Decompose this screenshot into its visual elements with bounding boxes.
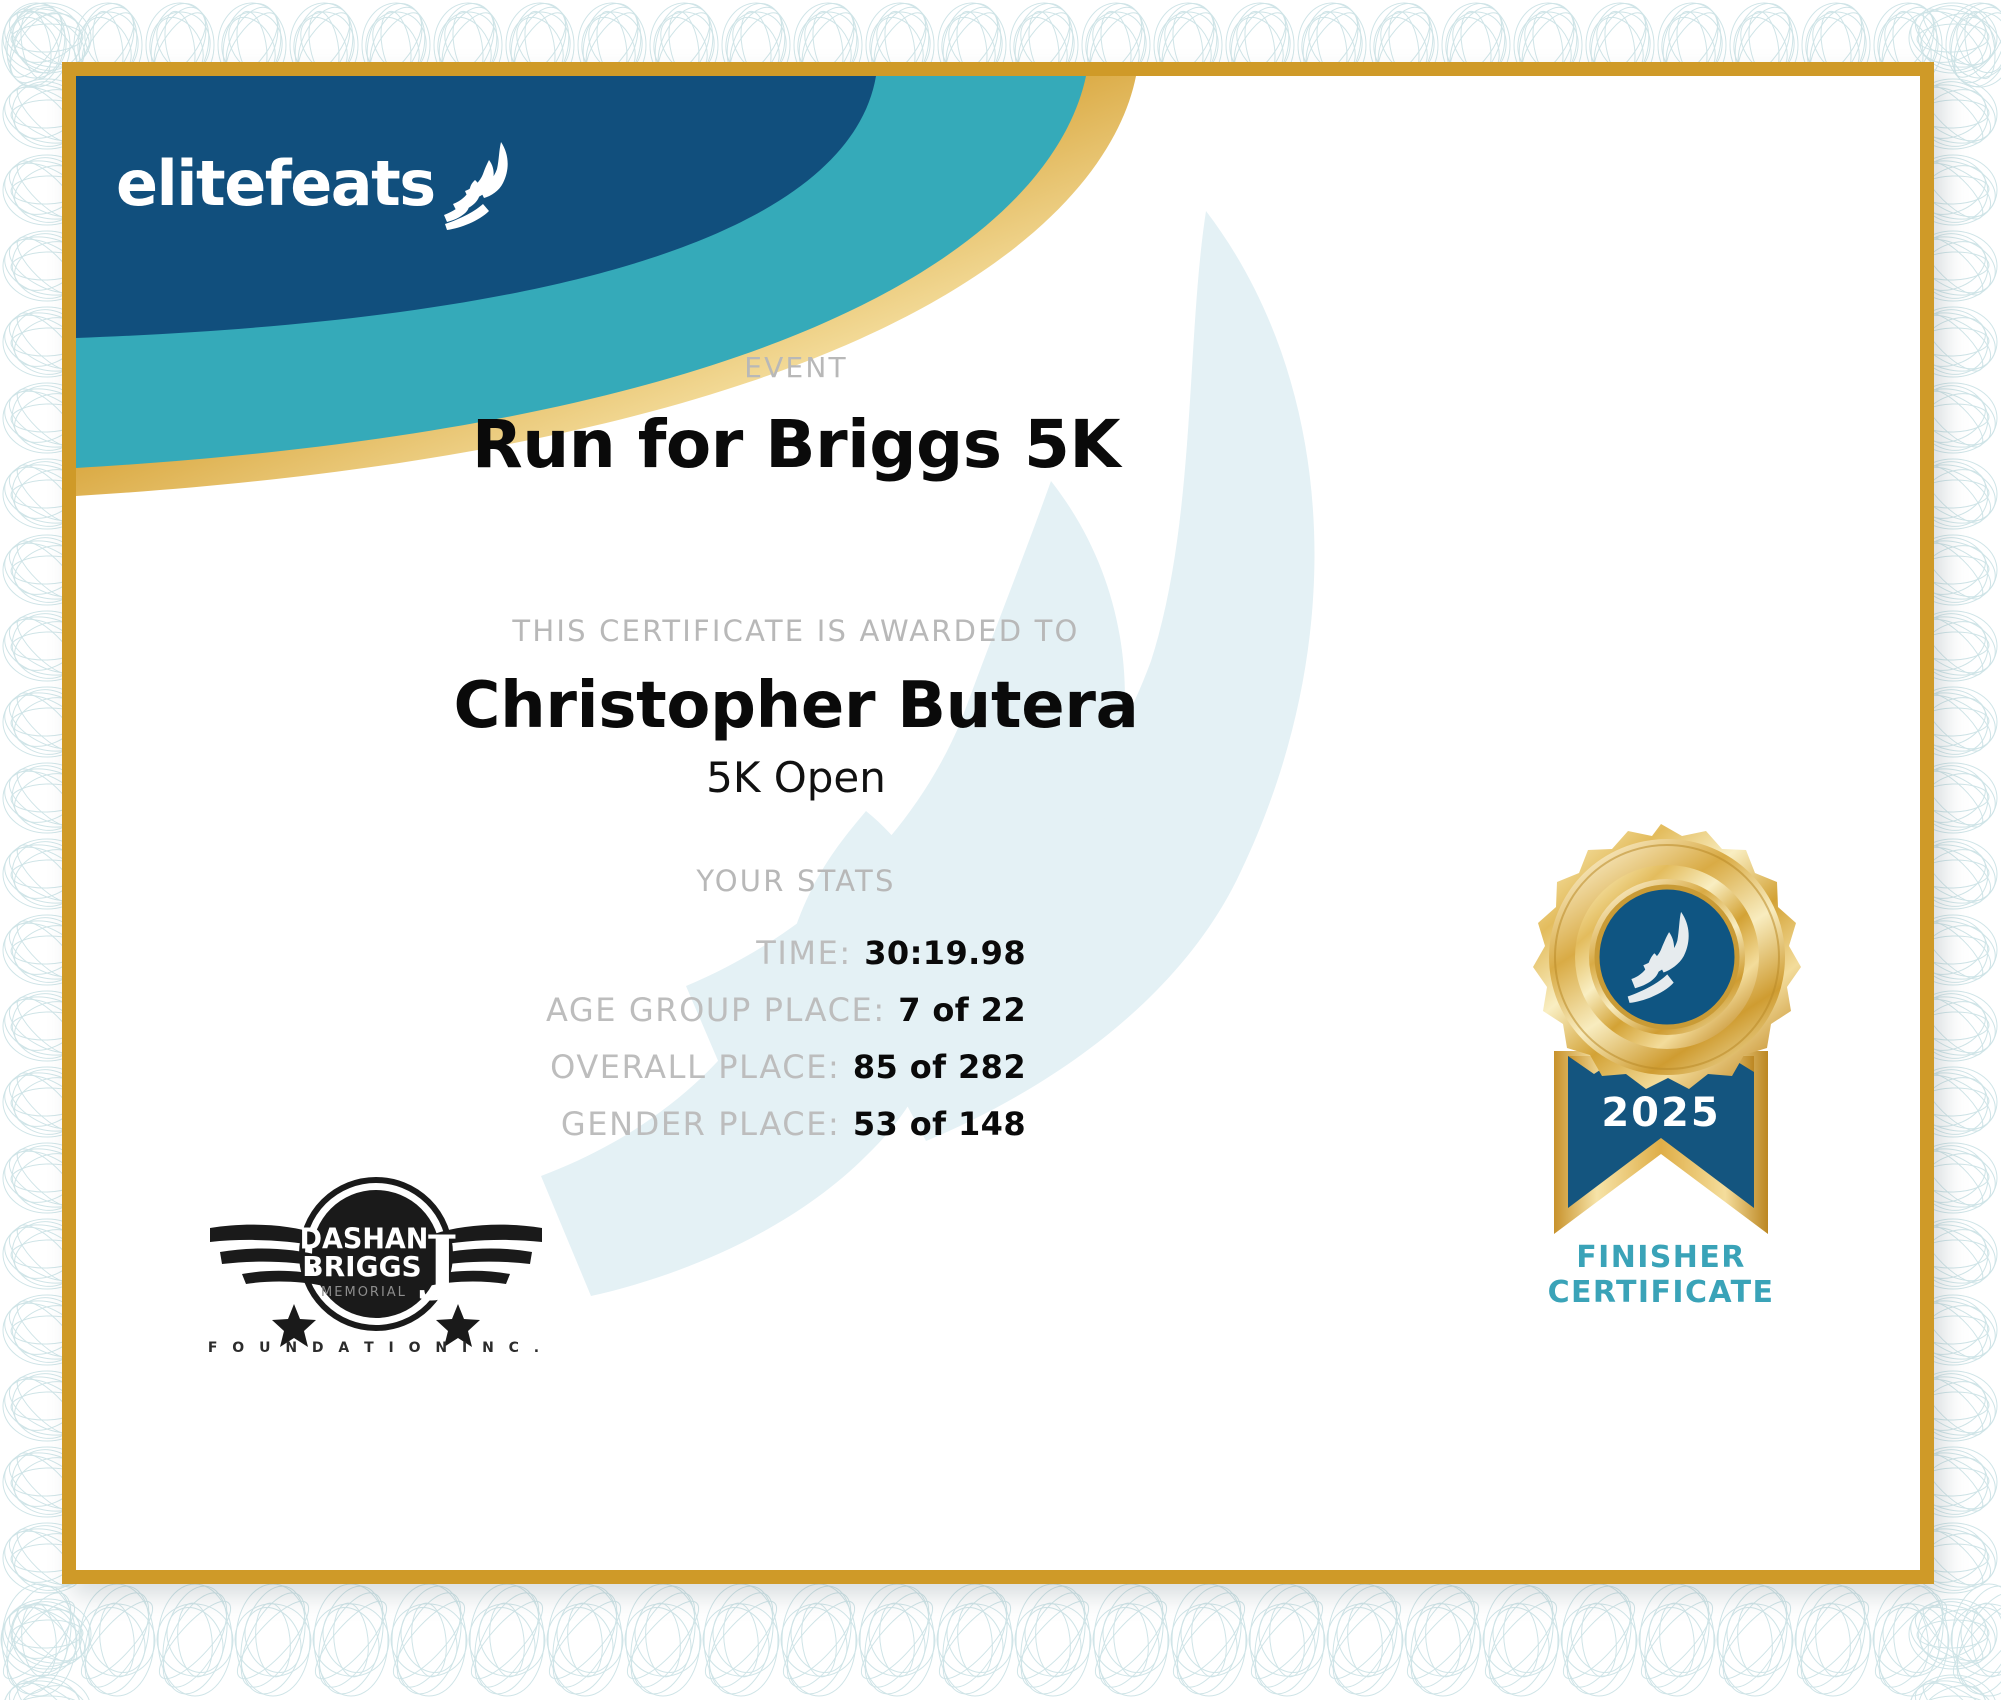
stat-key: GENDER PLACE:: [561, 1105, 841, 1143]
sponsor-monogram: J: [419, 1220, 458, 1303]
certificate-body: elitefeats: [76, 76, 1920, 1570]
stat-row-overall-place: OVERALL PLACE: 85 of 282: [76, 1048, 1516, 1086]
recipient-division: 5K Open: [76, 753, 1516, 802]
recipient-name: Christopher Butera: [76, 669, 1516, 743]
stat-row-gender-place: GENDER PLACE: 53 of 148: [76, 1105, 1516, 1143]
event-title: Run for Briggs 5K: [76, 406, 1516, 483]
sponsor-name-line3: MEMORIAL: [321, 1285, 407, 1300]
medal-year: 2025: [1601, 1090, 1720, 1136]
event-label: EVENT: [76, 351, 1516, 384]
stat-row-age-group-place: AGE GROUP PLACE: 7 of 22: [76, 991, 1516, 1029]
stats-list: TIME: 30:19.98 AGE GROUP PLACE: 7 of 22 …: [76, 934, 1516, 1162]
dashan-briggs-foundation-logo: DASHAN BRIGGS MEMORIAL J F O U N D A T I…: [206, 1166, 546, 1386]
certificate-page: elitefeats: [0, 0, 2001, 1700]
guilloche-pattern-bottom: [0, 1580, 2001, 1700]
finisher-certificate-caption: FINISHER CERTIFICATE: [1476, 1240, 1846, 1311]
finisher-caption-line1: FINISHER: [1476, 1240, 1846, 1275]
finisher-medal: 2025: [1476, 806, 1846, 1311]
stat-value: 30:19.98: [864, 934, 1026, 972]
stat-value: 85 of 282: [853, 1048, 1026, 1086]
your-stats-label: YOUR STATS: [76, 864, 1516, 898]
stat-value: 7 of 22: [898, 991, 1026, 1029]
elitefeats-logo: elitefeats: [116, 138, 523, 230]
stat-key: AGE GROUP PLACE:: [546, 991, 886, 1029]
medal-art: 2025: [1476, 806, 1846, 1246]
stat-value: 53 of 148: [853, 1105, 1026, 1143]
awarded-to-label: THIS CERTIFICATE IS AWARDED TO: [76, 614, 1516, 648]
finisher-caption-line2: CERTIFICATE: [1476, 1275, 1846, 1310]
winged-foot-icon: [439, 138, 523, 230]
brand-wordmark: elitefeats: [116, 153, 435, 215]
sponsor-name-line2: BRIGGS: [302, 1250, 421, 1283]
certificate-frame: elitefeats: [62, 62, 1934, 1584]
stat-row-time: TIME: 30:19.98: [76, 934, 1516, 972]
sponsor-subtitle: F O U N D A T I O N I N C .: [208, 1340, 544, 1356]
stat-key: OVERALL PLACE:: [550, 1048, 840, 1086]
stat-key: TIME:: [756, 934, 852, 972]
